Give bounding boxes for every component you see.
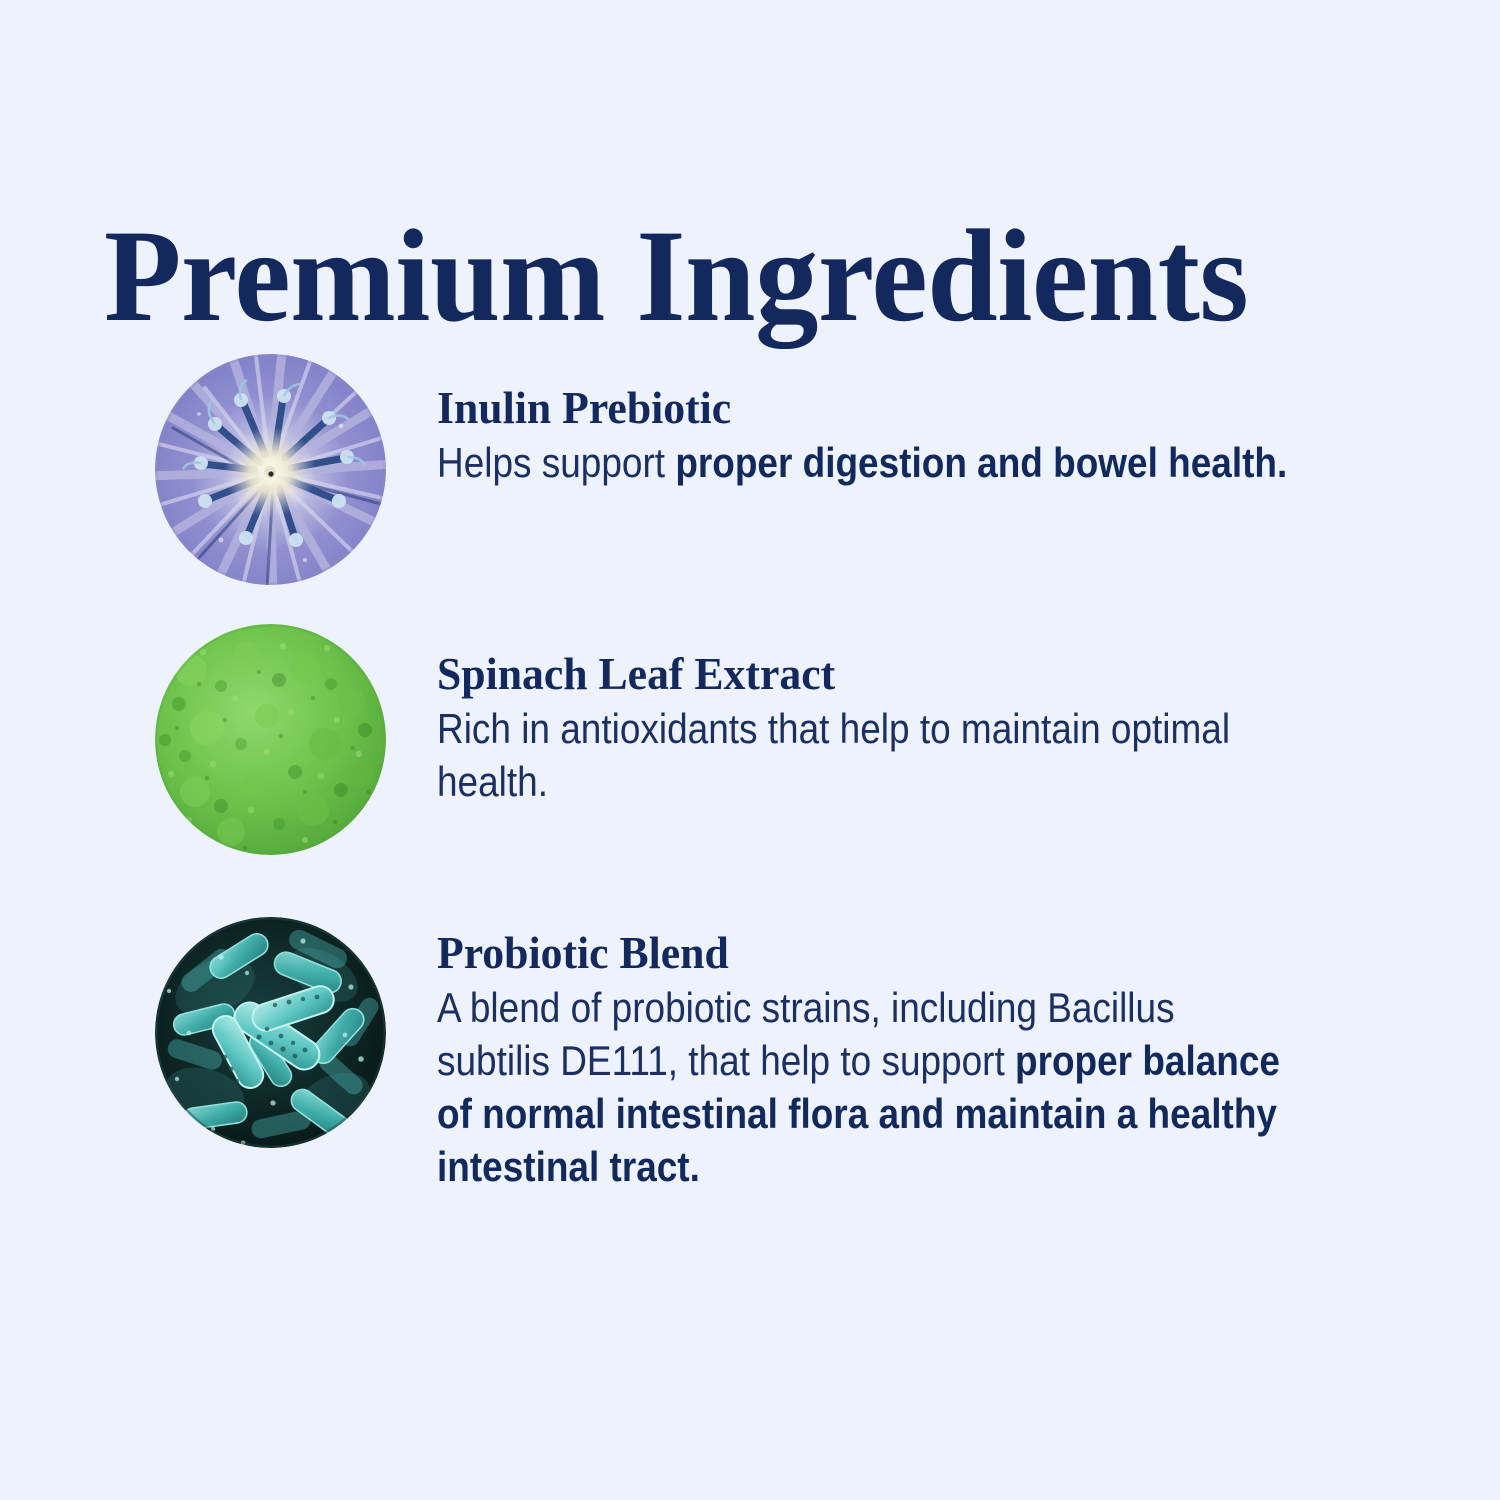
description-emphasis: proper digestion and bowel health. <box>675 439 1287 486</box>
chicory-flower-photo <box>155 354 386 585</box>
ingredient-name: Inulin Prebiotic <box>437 382 1254 434</box>
ingredient-text: Probiotic Blend A blend of probiotic str… <box>437 927 1297 1193</box>
ingredient-list: Inulin Prebiotic Helps support proper di… <box>0 0 1500 1500</box>
premium-ingredients-panel: Premium Ingredients <box>0 0 1500 1500</box>
spinach-powder-photo <box>155 624 386 855</box>
ingredient-description: Helps support proper digestion and bowel… <box>437 436 1292 489</box>
probiotic-bacteria-photo <box>155 917 386 1148</box>
ingredient-name: Spinach Leaf Extract <box>437 648 1254 700</box>
ingredient-name: Probiotic Blend <box>437 927 1254 979</box>
description-normal: Rich in antioxidants that help to mainta… <box>437 705 1230 805</box>
description-normal: Helps support <box>437 439 675 486</box>
ingredient-description: Rich in antioxidants that help to mainta… <box>437 702 1292 808</box>
ingredient-description: A blend of probiotic strains, including … <box>437 981 1292 1193</box>
ingredient-text: Inulin Prebiotic Helps support proper di… <box>437 382 1297 489</box>
ingredient-text: Spinach Leaf Extract Rich in antioxidant… <box>437 648 1297 808</box>
